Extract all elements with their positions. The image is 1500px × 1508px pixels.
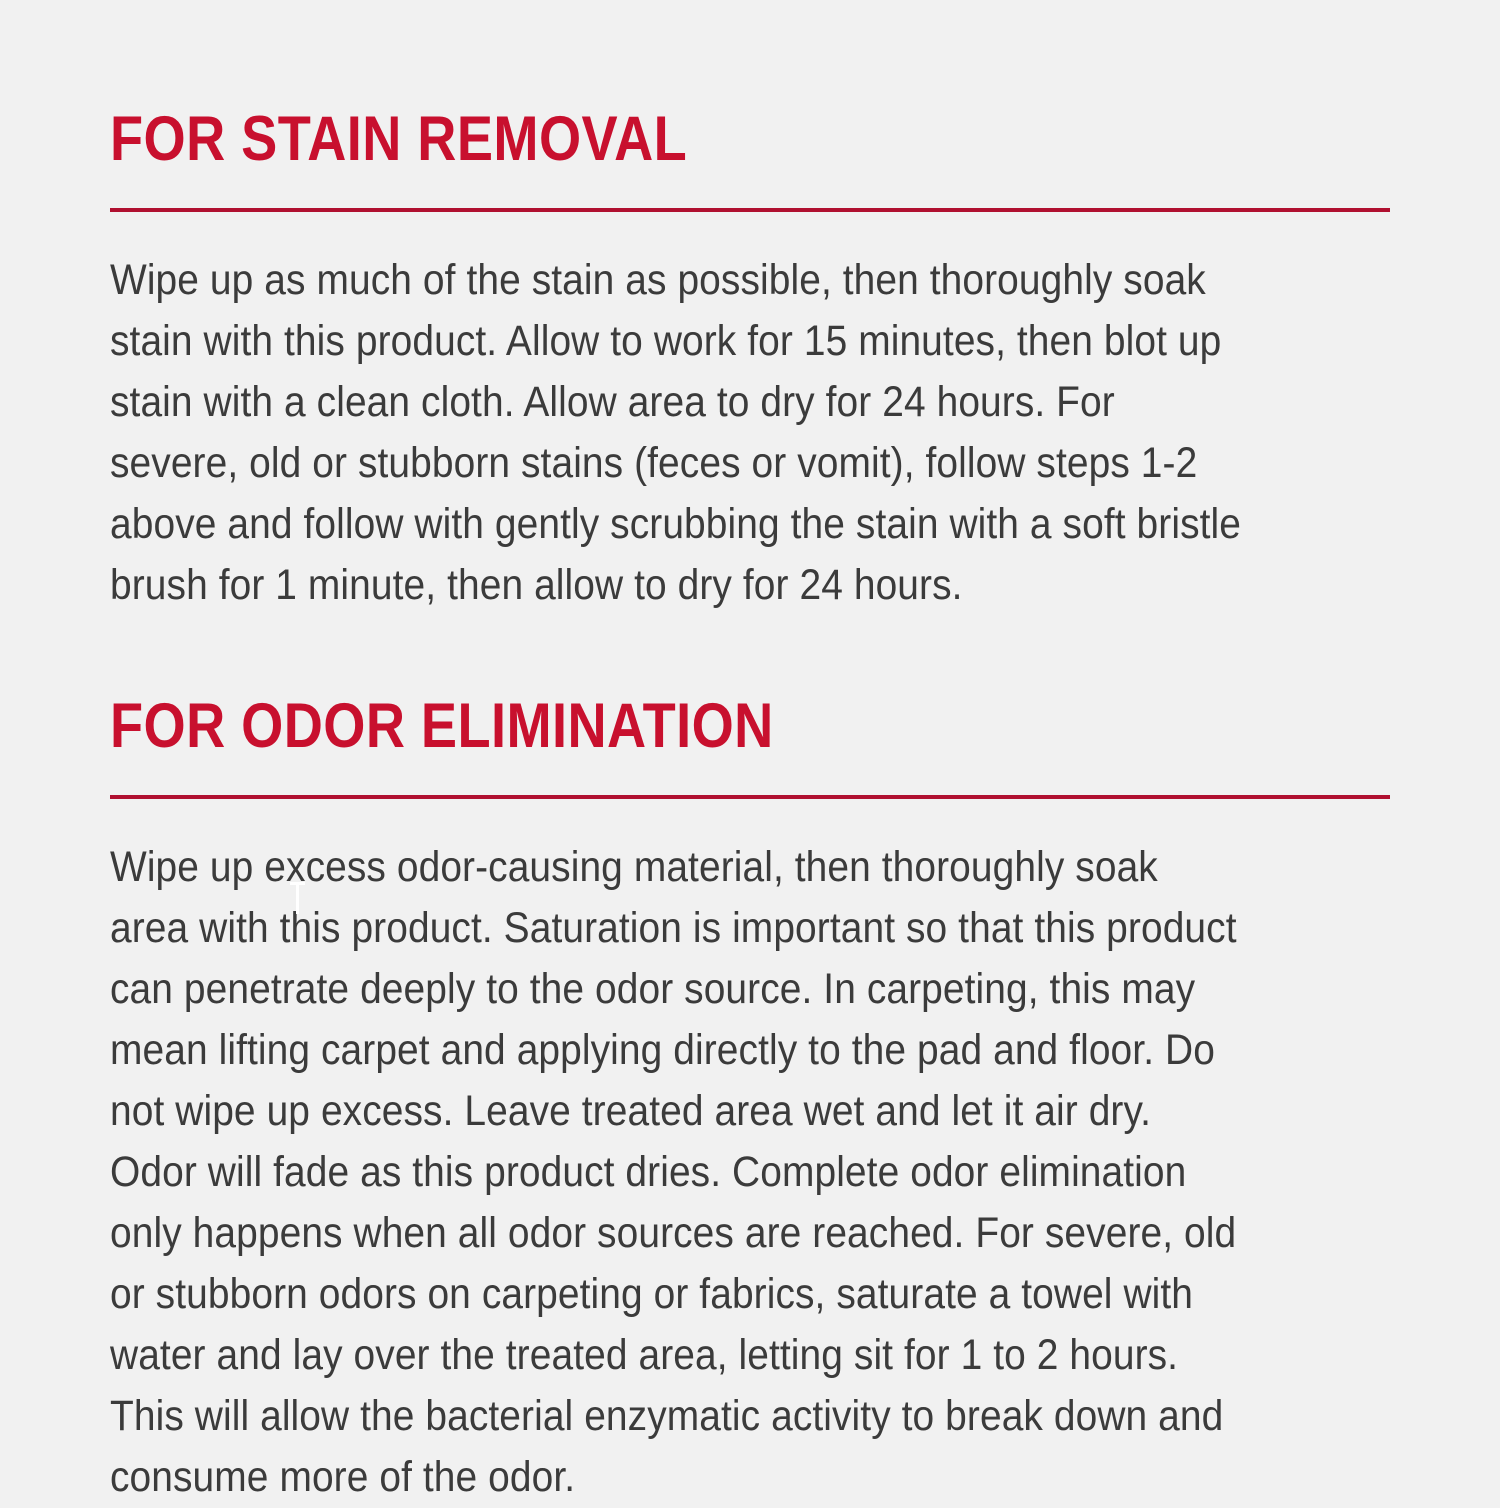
section-divider-wrap — [110, 208, 1390, 212]
product-instructions-panel: FOR STAIN REMOVAL Wipe up as much of the… — [0, 0, 1500, 1500]
section-body-stain-removal: Wipe up as much of the stain as possible… — [110, 250, 1246, 616]
section-stain-removal: FOR STAIN REMOVAL Wipe up as much of the… — [110, 108, 1390, 616]
section-body-odor-elimination: Wipe up excess odor-causing material, th… — [110, 837, 1246, 1508]
section-divider-wrap — [110, 795, 1390, 799]
section-heading-odor-elimination: FOR ODOR ELIMINATION — [110, 695, 1211, 758]
section-odor-elimination: FOR ODOR ELIMINATION Wipe up excess odor… — [110, 695, 1390, 1508]
section-heading-stain-removal: FOR STAIN REMOVAL — [110, 108, 1211, 171]
section-divider-odor-elimination — [110, 795, 1390, 799]
section-divider-stain-removal — [110, 208, 1390, 212]
